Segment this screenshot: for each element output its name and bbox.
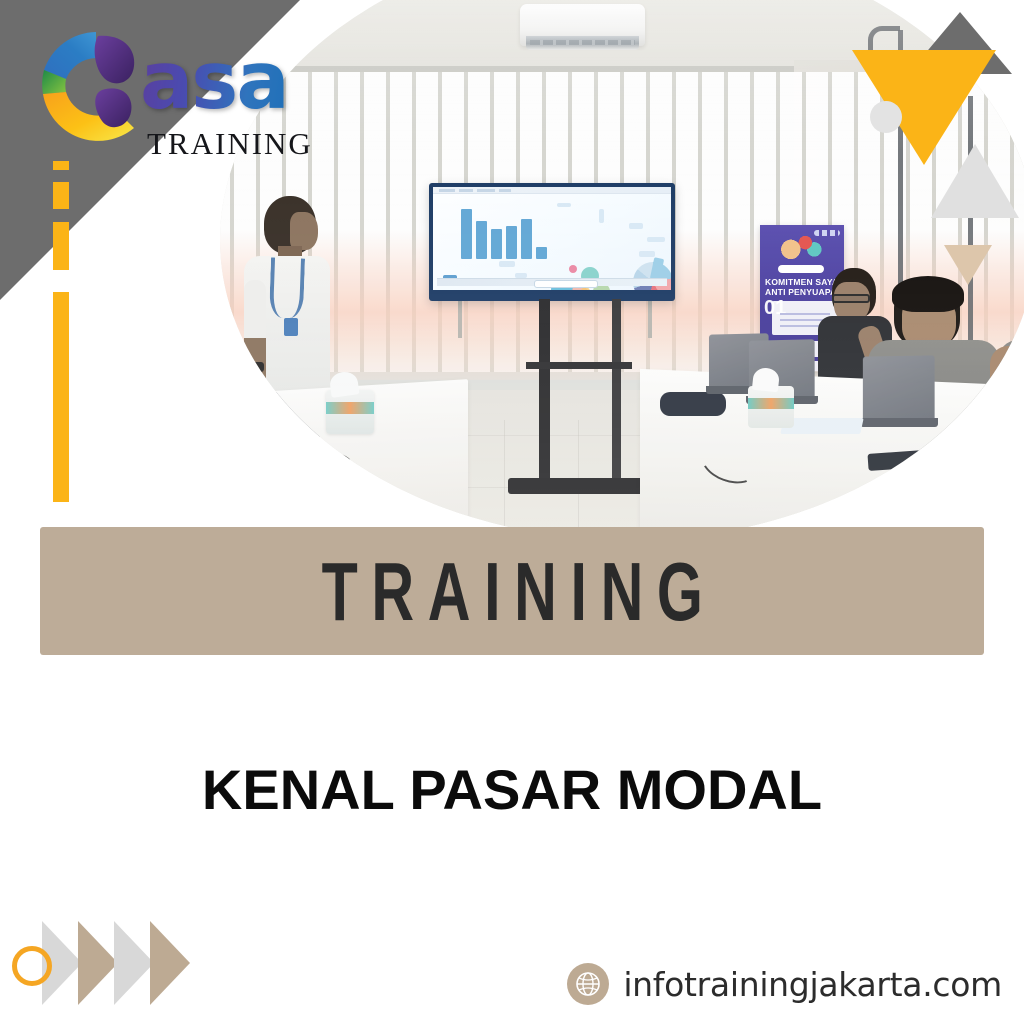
page-title: KENAL PASAR MODAL bbox=[0, 757, 1024, 822]
training-banner: TRAINING bbox=[40, 527, 984, 655]
dash-1 bbox=[53, 161, 69, 170]
chevron-3 bbox=[114, 921, 154, 1005]
orange-ring-icon bbox=[12, 946, 52, 986]
globe-icon bbox=[567, 963, 609, 1005]
dash-4 bbox=[53, 292, 69, 502]
chevron-2 bbox=[78, 921, 118, 1005]
website-footer[interactable]: infotrainingjakarta.com bbox=[567, 962, 1002, 1006]
website-url[interactable]: infotrainingjakarta.com bbox=[623, 965, 1002, 1004]
tan-triangle-down-icon bbox=[944, 245, 992, 285]
dash-2 bbox=[53, 182, 69, 209]
gray-circle-icon bbox=[870, 101, 902, 133]
chevron-4 bbox=[150, 921, 190, 1005]
mouse-on-table bbox=[924, 446, 940, 457]
logo-wordmark: asa bbox=[140, 46, 288, 117]
poster-canvas: KOMITMEN SAYA ANTI PENYUAPAN 01 02 bbox=[0, 0, 1024, 1024]
white-triangle-up-icon bbox=[931, 144, 1019, 218]
casa-training-logo: asa TRAINING bbox=[30, 22, 330, 157]
training-banner-label: TRAINING bbox=[308, 543, 717, 638]
logo-subtitle: TRAINING bbox=[147, 126, 313, 162]
dash-3 bbox=[53, 222, 69, 270]
